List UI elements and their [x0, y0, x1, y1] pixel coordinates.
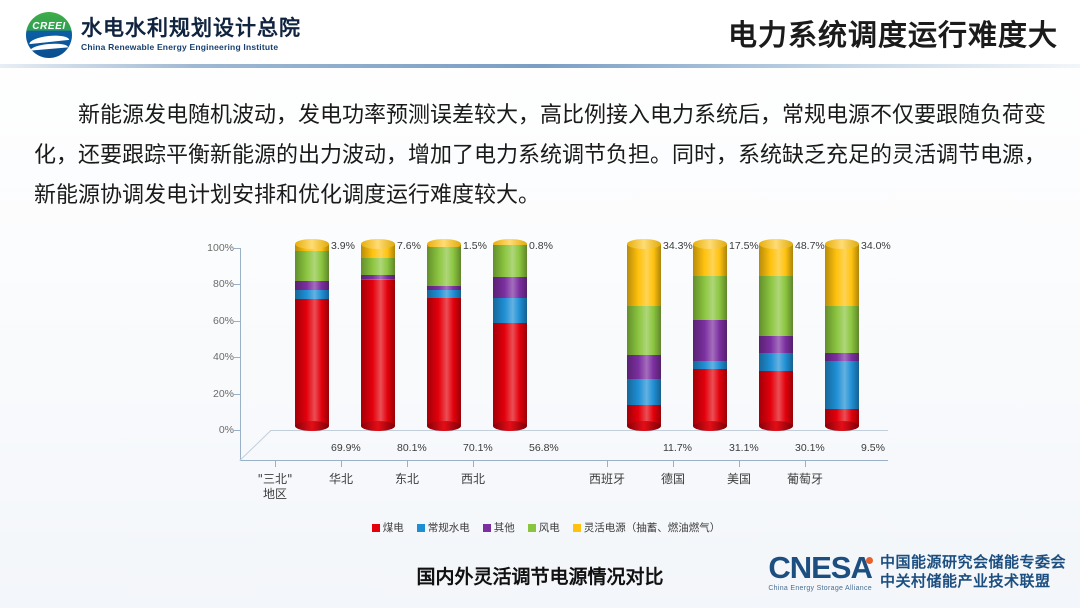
- bar-column[interactable]: [825, 244, 859, 426]
- bar-segment[interactable]: [361, 280, 395, 426]
- bar-top-value-label: 7.6%: [397, 240, 421, 252]
- y-tick-label: 100%: [207, 242, 234, 254]
- x-axis-label-line: 东北: [395, 472, 419, 487]
- x-axis-label: 西班牙: [589, 472, 625, 487]
- bar-segment[interactable]: [759, 336, 793, 353]
- legend-swatch: [573, 524, 581, 532]
- legend-swatch: [372, 524, 380, 532]
- bar-segment[interactable]: [825, 361, 859, 409]
- legend-item[interactable]: 煤电: [372, 520, 404, 535]
- bar-bottom-cap: [759, 421, 793, 431]
- bar-column[interactable]: [361, 244, 395, 426]
- bar-segment[interactable]: [693, 369, 727, 426]
- bar-top-cap: [295, 239, 329, 249]
- bar-top-cap: [759, 239, 793, 249]
- org-name-cn: 水电水利规划设计总院: [81, 18, 301, 39]
- bar-bottom-cap: [627, 421, 661, 431]
- bar-bottom-cap: [493, 421, 527, 431]
- bar-segment[interactable]: [693, 320, 727, 362]
- bar-top-value-label: 17.5%: [729, 240, 759, 252]
- bar-segment[interactable]: [493, 245, 527, 276]
- x-axis-label-line: 葡萄牙: [787, 472, 823, 487]
- cnesa-dot-icon: [866, 557, 873, 564]
- logo-wave-2: [30, 42, 68, 50]
- legend-swatch: [528, 524, 536, 532]
- legend-item[interactable]: 风电: [528, 520, 560, 535]
- bar-segment[interactable]: [693, 244, 727, 276]
- y-tick-label: 0%: [219, 424, 234, 436]
- bar-segment[interactable]: [693, 276, 727, 320]
- bar-segment[interactable]: [825, 244, 859, 306]
- bar-segment[interactable]: [427, 247, 461, 286]
- bar-segment[interactable]: [759, 371, 793, 426]
- bar-bottom-cap: [427, 421, 461, 431]
- bar-top-cap: [361, 239, 395, 249]
- bar-bottom-value-label: 30.1%: [795, 442, 825, 454]
- bar-segment[interactable]: [295, 290, 329, 299]
- bar-segment[interactable]: [427, 290, 461, 298]
- bar-bottom-value-label: 31.1%: [729, 442, 759, 454]
- bar-segment[interactable]: [627, 306, 661, 354]
- bar-segment[interactable]: [759, 244, 793, 276]
- bar-segment[interactable]: [825, 409, 859, 426]
- bar-bottom-cap: [825, 421, 859, 431]
- x-axis-label-line: 西北: [461, 472, 485, 487]
- bar-segment[interactable]: [627, 355, 661, 379]
- bar-bottom-cap: [295, 421, 329, 431]
- slide-header: CREEI 水电水利规划设计总院 China Renewable Energy …: [0, 0, 1080, 66]
- bar-bottom-value-label: 80.1%: [397, 442, 427, 454]
- bar-top-cap: [825, 239, 859, 249]
- org-name-en: China Renewable Energy Engineering Insti…: [81, 43, 301, 52]
- bar-top-value-label: 48.7%: [795, 240, 825, 252]
- x-axis-label: 德国: [661, 472, 685, 487]
- bar-segment[interactable]: [759, 276, 793, 336]
- x-axis-label: 西北: [461, 472, 485, 487]
- bar-column[interactable]: [693, 244, 727, 426]
- y-tick-label: 80%: [213, 278, 234, 290]
- y-tick-label: 40%: [213, 351, 234, 363]
- x-axis-label-line: 德国: [661, 472, 685, 487]
- y-tick-label: 20%: [213, 388, 234, 400]
- chart-legend: 煤电常规水电其他风电灵活电源（抽蓄、燃油燃气）: [196, 520, 896, 535]
- creei-logo-icon: CREEI: [26, 12, 72, 58]
- x-axis-label-line: 华北: [329, 472, 353, 487]
- bar-segment[interactable]: [825, 353, 859, 361]
- x-axis-label-line: 美国: [727, 472, 751, 487]
- bar-segment[interactable]: [295, 281, 329, 289]
- bar-bottom-value-label: 11.7%: [663, 442, 692, 454]
- legend-swatch: [417, 524, 425, 532]
- y-tick-label: 60%: [213, 315, 234, 327]
- bar-segment[interactable]: [627, 379, 661, 405]
- page-title: 电力系统调度运行难度大: [728, 12, 1058, 54]
- floor-back-edge: [270, 430, 888, 431]
- floor-left-edge: [239, 430, 271, 461]
- y-axis-line: [240, 248, 241, 460]
- bar-segment[interactable]: [627, 244, 661, 306]
- legend-label: 风电: [539, 520, 560, 535]
- x-tick-mark: [275, 461, 276, 467]
- x-tick-mark: [473, 461, 474, 467]
- bar-segment[interactable]: [295, 244, 329, 251]
- x-axis-label-line: "三北": [257, 472, 292, 487]
- cnesa-wordmark-text: CNESA: [768, 550, 872, 585]
- bar-top-value-label: 34.3%: [663, 240, 693, 252]
- bar-segment[interactable]: [627, 405, 661, 426]
- bar-segment[interactable]: [693, 361, 727, 369]
- bar-bottom-value-label: 70.1%: [463, 442, 493, 454]
- x-axis-label-line: 西班牙: [589, 472, 625, 487]
- bar-top-cap: [627, 239, 661, 249]
- x-tick-mark: [739, 461, 740, 467]
- body-paragraph: 新能源发电随机波动，发电功率预测误差较大，高比例接入电力系统后，常规电源不仅要跟…: [34, 96, 1046, 216]
- stacked-bar-chart: 0%20%40%60%80%100% "三北"地区华北东北西北西班牙德国美国葡萄…: [196, 248, 896, 548]
- bar-bottom-value-label: 9.5%: [861, 442, 885, 454]
- x-axis-label-line: 地区: [257, 487, 292, 502]
- slide: CREEI 水电水利规划设计总院 China Renewable Energy …: [0, 0, 1080, 608]
- bar-segment[interactable]: [493, 298, 527, 323]
- bar-segment[interactable]: [361, 258, 395, 275]
- bar-column[interactable]: [627, 244, 661, 426]
- cnesa-line-2: 中关村储能产业技术联盟: [880, 572, 1066, 591]
- bar-column[interactable]: [493, 244, 527, 426]
- bar-bottom-value-label: 69.9%: [331, 442, 361, 454]
- chart-x-axis-labels: "三北"地区华北东北西北西班牙德国美国葡萄牙: [240, 472, 888, 516]
- creei-logo: CREEI 水电水利规划设计总院 China Renewable Energy …: [26, 12, 301, 58]
- cnesa-wordmark: CNESA: [768, 552, 872, 583]
- x-tick-mark: [607, 461, 608, 467]
- bar-top-value-label: 34.0%: [861, 240, 891, 252]
- legend-label: 煤电: [383, 520, 404, 535]
- legend-label: 灵活电源（抽蓄、燃油燃气）: [584, 520, 721, 535]
- bar-segment[interactable]: [493, 323, 527, 426]
- x-tick-mark: [341, 461, 342, 467]
- legend-label: 常规水电: [428, 520, 470, 535]
- bar-segment[interactable]: [825, 306, 859, 353]
- chart-y-axis: 0%20%40%60%80%100%: [196, 248, 240, 460]
- bar-top-value-label: 1.5%: [463, 240, 487, 252]
- cnesa-logo: CNESA China Energy Storage Alliance 中国能源…: [768, 552, 1066, 592]
- legend-item[interactable]: 灵活电源（抽蓄、燃油燃气）: [573, 520, 721, 535]
- x-axis-label: 华北: [329, 472, 353, 487]
- legend-label: 其他: [494, 520, 515, 535]
- x-axis-label: "三北"地区: [257, 472, 292, 502]
- legend-swatch: [483, 524, 491, 532]
- bar-segment[interactable]: [361, 244, 395, 258]
- bar-bottom-value-label: 56.8%: [529, 442, 559, 454]
- bar-top-value-label: 3.9%: [331, 240, 355, 252]
- header-divider: [0, 64, 1080, 68]
- creei-logo-abbr: CREEI: [26, 21, 72, 32]
- bar-column[interactable]: [427, 244, 461, 426]
- legend-item[interactable]: 常规水电: [417, 520, 470, 535]
- bar-segment[interactable]: [427, 298, 461, 426]
- bar-segment[interactable]: [493, 277, 527, 298]
- x-tick-mark: [673, 461, 674, 467]
- cnesa-line-1: 中国能源研究会储能专委会: [880, 553, 1066, 572]
- x-tick-mark: [805, 461, 806, 467]
- bar-bottom-cap: [361, 421, 395, 431]
- bar-top-cap: [693, 239, 727, 249]
- x-axis-label: 美国: [727, 472, 751, 487]
- bar-segment[interactable]: [295, 251, 329, 281]
- bar-column[interactable]: [295, 244, 329, 426]
- logo-wave-1: [29, 34, 69, 44]
- x-tick-mark: [407, 461, 408, 467]
- bar-segment[interactable]: [759, 353, 793, 371]
- bar-segment[interactable]: [295, 299, 329, 426]
- bar-bottom-cap: [693, 421, 727, 431]
- x-axis-label: 东北: [395, 472, 419, 487]
- bar-column[interactable]: [759, 244, 793, 426]
- cnesa-subtitle-en: China Energy Storage Alliance: [768, 585, 872, 592]
- bar-top-value-label: 0.8%: [529, 240, 553, 252]
- legend-item[interactable]: 其他: [483, 520, 515, 535]
- x-axis-label: 葡萄牙: [787, 472, 823, 487]
